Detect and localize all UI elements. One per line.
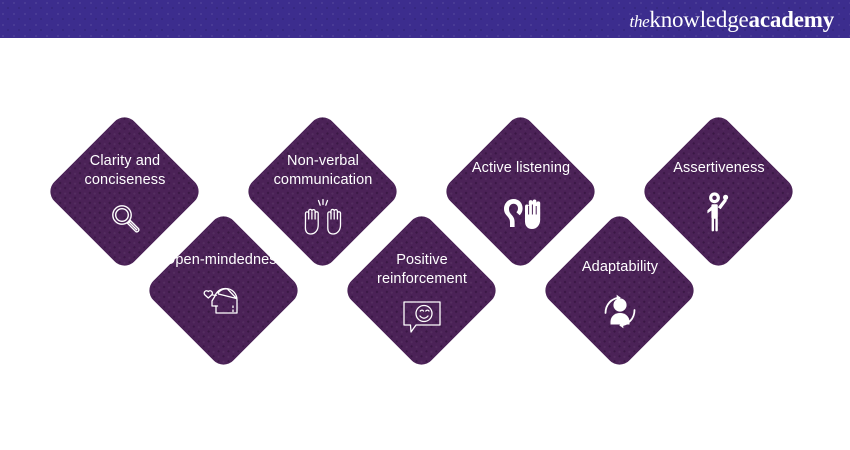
brand-logo-academy: academy (749, 7, 834, 32)
smiley-speech-bubble-icon (398, 295, 446, 339)
brand-logo-the: the (630, 12, 650, 31)
two-hands-gesture-icon (299, 196, 347, 240)
diamond-assertiveness[interactable]: Assertiveness (639, 112, 799, 272)
person-rotating-arrows-icon (596, 289, 644, 333)
diamond-label: Assertiveness (653, 159, 785, 178)
person-raised-hand-icon (695, 190, 743, 234)
diamond-content: Assertiveness (639, 112, 799, 272)
diamond-label: Non-verbal communication (253, 152, 393, 190)
brand-logo-knowledge: knowledge (649, 7, 748, 32)
magnifying-glass-icon (101, 196, 149, 240)
diamond-label: Active listening (455, 159, 587, 178)
brand-logo[interactable]: theknowledgeacademy (630, 8, 834, 31)
ear-and-hand-icon (497, 190, 545, 234)
open-mind-head-heart-icon (200, 276, 248, 320)
page-header: theknowledgeacademy (0, 0, 850, 38)
diamond-label: Clarity and conciseness (59, 152, 191, 190)
diamond-diagram: Clarity and conciseness Open-mindedness (0, 38, 850, 450)
